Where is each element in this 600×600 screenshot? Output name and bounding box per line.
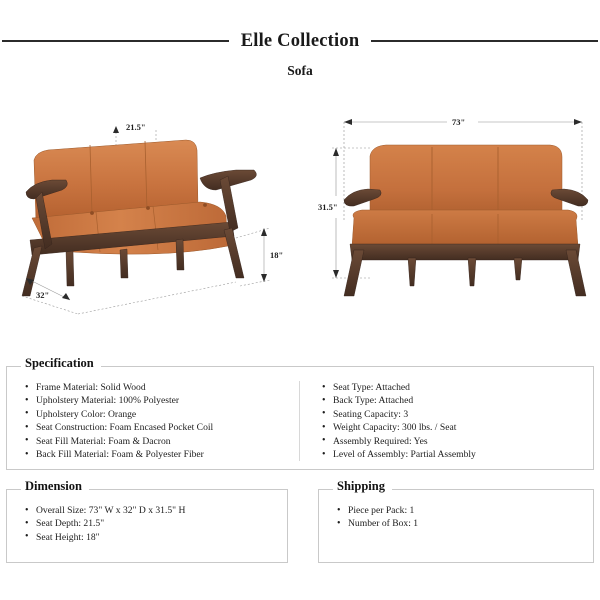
dim-label-seat-depth: 21.5" [126,122,146,132]
list-item: Number of Box: 1 [337,517,583,530]
dim-label-depth: 32" [36,290,49,300]
list-item: Level of Assembly: Partial Assembly [322,448,583,461]
specification-list-right: Seat Type: Attached Back Type: Attached … [322,381,583,461]
page-subtitle: Sofa [0,63,600,79]
dimension-list: Overall Size: 73" W x 32" D x 31.5" H Se… [25,504,277,544]
list-item: Frame Material: Solid Wood [25,381,289,394]
sofa-base-rail [350,244,580,260]
specification-legend: Specification [21,357,101,370]
specification-column-left: Frame Material: Solid Wood Upholstery Ma… [7,381,300,461]
list-item: Overall Size: 73" W x 32" D x 31.5" H [25,504,277,517]
list-item: Weight Capacity: 300 lbs. / Seat [322,421,583,434]
sofa-angled-view: 21.5" [8,100,308,350]
list-item: Back Type: Attached [322,394,583,407]
dimension-legend: Dimension [21,480,89,493]
sofa-backrest-front [370,145,562,220]
list-item: Seat Type: Attached [322,381,583,394]
list-item: Upholstery Material: 100% Polyester [25,394,289,407]
specification-column-right: Seat Type: Attached Back Type: Attached … [300,381,593,461]
dimension-column: Overall Size: 73" W x 32" D x 31.5" H Se… [7,504,287,554]
shipping-list: Piece per Pack: 1 Number of Box: 1 [337,504,583,531]
sofa-seat-front [352,210,578,246]
shipping-column: Piece per Pack: 1 Number of Box: 1 [319,504,593,554]
list-item: Back Fill Material: Foam & Polyester Fib… [25,448,289,461]
list-item: Assembly Required: Yes [322,435,583,448]
tuft-button [90,211,94,215]
list-item: Upholstery Color: Orange [25,408,289,421]
dim-depth-left [22,278,236,314]
list-item: Seat Height: 18" [25,531,277,544]
list-item: Piece per Pack: 1 [337,504,583,517]
tuft-button [146,206,150,210]
title-rule-right [371,40,598,42]
specification-list-left: Frame Material: Solid Wood Upholstery Ma… [25,381,289,461]
dim-label-width: 73" [452,117,465,127]
shipping-legend: Shipping [333,480,392,493]
title-rule-left [2,40,229,42]
sofa-front-view: 73" 31.5" [310,100,598,350]
product-illustrations: 21.5" [0,100,600,350]
list-item: Seating Capacity: 3 [322,408,583,421]
tuft-button [203,203,207,207]
list-item: Seat Construction: Foam Encased Pocket C… [25,421,289,434]
page-title: Elle Collection [241,32,360,51]
specification-section: Specification Frame Material: Solid Wood… [6,366,594,470]
document-title-row: Elle Collection [0,29,600,53]
shipping-section: Shipping Piece per Pack: 1 Number of Box… [318,489,594,563]
list-item: Seat Depth: 21.5" [25,517,277,530]
list-item: Seat Fill Material: Foam & Dacron [25,435,289,448]
dim-label-height: 31.5" [318,202,338,212]
dimension-section: Dimension Overall Size: 73" W x 32" D x … [6,489,288,563]
dim-label-seat-height: 18" [270,250,283,260]
